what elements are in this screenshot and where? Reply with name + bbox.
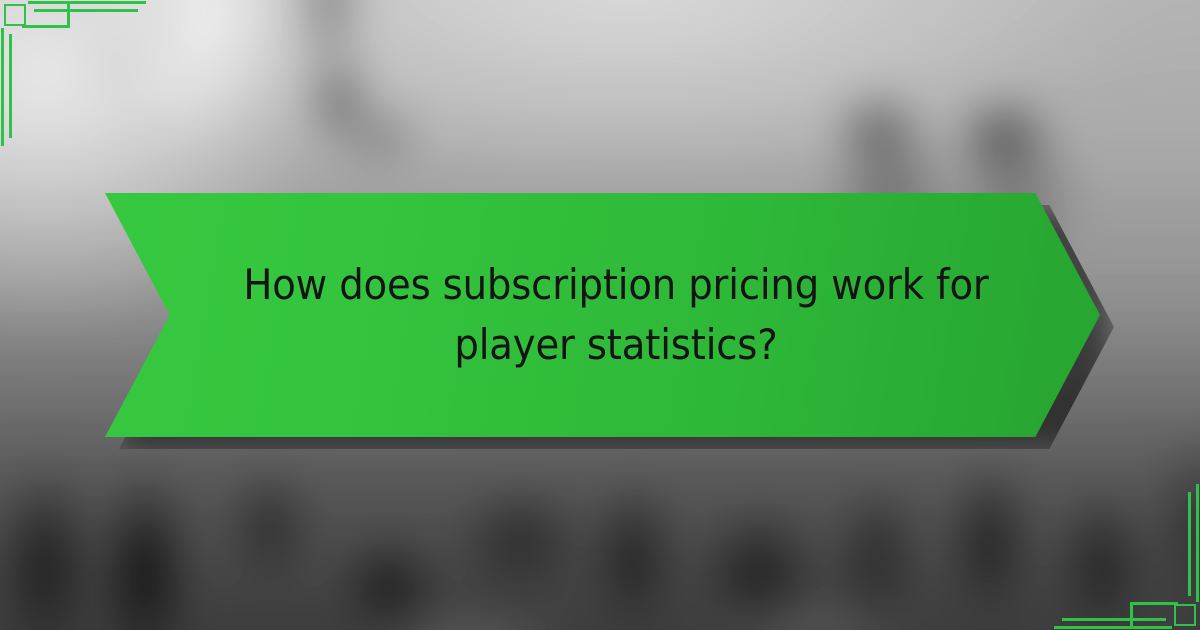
screenshot-canvas: How does subscription pricing work for p… <box>0 0 1200 630</box>
headline-text: How does subscription pricing work for p… <box>238 255 992 374</box>
headline-banner: How does subscription pricing work for p… <box>105 193 1100 437</box>
